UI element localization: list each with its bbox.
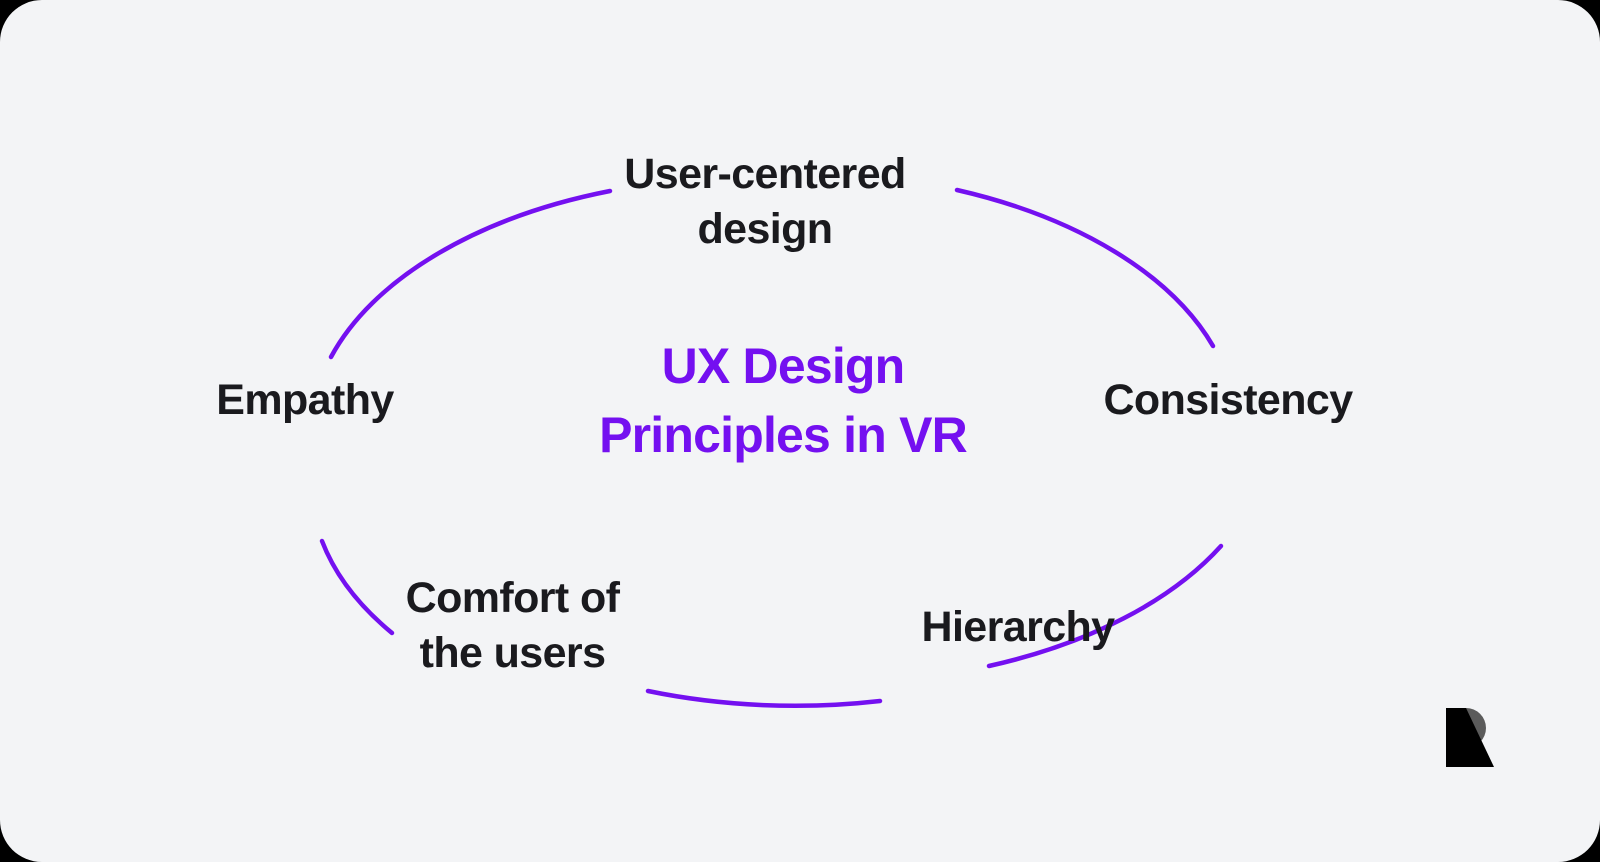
node-label-empathy: Empathy <box>155 373 455 428</box>
arc-segment-comfort-to-hierarchy <box>648 691 880 706</box>
r-monogram-logo <box>1444 707 1496 769</box>
node-label-user-centered-design: User-centered design <box>535 147 995 257</box>
logo-stem <box>1446 708 1494 767</box>
node-label-hierarchy: Hierarchy <box>868 600 1168 655</box>
center-title: UX Design Principles in VR <box>483 332 1083 470</box>
node-label-comfort-of-the-users: Comfort of the users <box>340 571 685 681</box>
arc-segment-user-centered-to-consistency <box>957 190 1213 346</box>
node-label-consistency: Consistency <box>1048 373 1408 428</box>
diagram-canvas: UX Design Principles in VR User-centered… <box>0 0 1600 862</box>
